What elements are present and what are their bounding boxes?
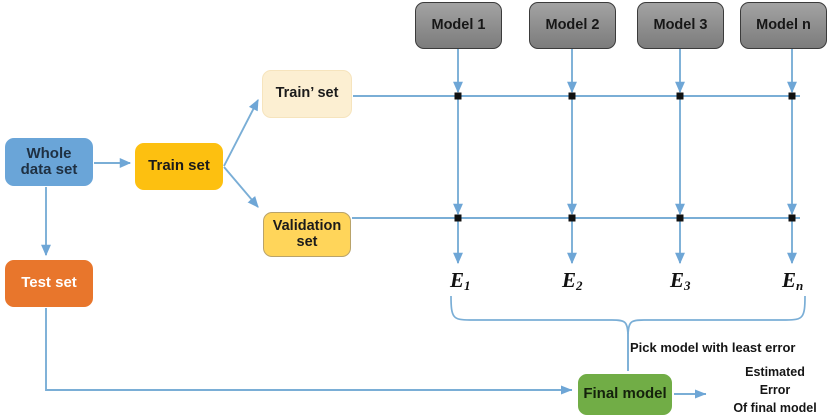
node-model-n-label: Model n — [756, 18, 811, 34]
node-validation-set-line1: Validation — [273, 219, 342, 235]
caption-estimated-line1: Estimated — [712, 363, 829, 381]
node-model-n[interactable]: Model n — [740, 2, 827, 49]
error-label-2-sub: 2 — [576, 278, 583, 293]
error-label-n-sub: n — [796, 278, 803, 293]
error-label-2-base: E — [562, 268, 576, 292]
node-train-prime-set[interactable]: Train’ set — [262, 70, 352, 118]
node-validation-set-line2: set — [297, 235, 318, 251]
node-validation-set[interactable]: Validation set — [263, 212, 351, 257]
diagram-canvas: Whole data set Train set Train’ set Vali… — [0, 0, 829, 417]
node-model-1[interactable]: Model 1 — [415, 2, 502, 49]
node-test-set[interactable]: Test set — [5, 260, 93, 307]
error-label-n: En — [782, 268, 803, 293]
error-label-3-base: E — [670, 268, 684, 292]
node-final-model-label: Final model — [583, 386, 666, 402]
junction-dot — [789, 93, 796, 100]
edge-train-to-trainprime — [224, 100, 258, 166]
node-model-2[interactable]: Model 2 — [529, 2, 616, 49]
error-label-1: E1 — [450, 268, 471, 293]
junction-dot — [789, 215, 796, 222]
node-model-2-label: Model 2 — [546, 18, 600, 34]
error-label-3-sub: 3 — [684, 278, 691, 293]
error-label-1-sub: 1 — [464, 278, 471, 293]
node-whole-data-set[interactable]: Whole data set — [5, 138, 93, 186]
error-label-3: E3 — [670, 268, 691, 293]
node-test-set-label: Test set — [21, 275, 77, 291]
junction-dot — [455, 215, 462, 222]
edge-test-to-final — [46, 308, 572, 390]
node-train-set-label: Train set — [148, 158, 210, 174]
error-label-1-base: E — [450, 268, 464, 292]
junction-dot — [677, 93, 684, 100]
node-whole-data-set-line1: Whole — [26, 145, 71, 162]
node-model-3[interactable]: Model 3 — [637, 2, 724, 49]
edge-train-to-validation — [224, 167, 258, 207]
node-train-set[interactable]: Train set — [135, 143, 223, 190]
node-whole-data-set-line2: data set — [21, 161, 78, 178]
node-whole-data-set-label: Whole data set — [21, 146, 78, 178]
junction-dot — [677, 215, 684, 222]
error-label-2: E2 — [562, 268, 583, 293]
node-train-prime-set-label: Train’ set — [276, 86, 339, 102]
caption-pick-model: Pick model with least error — [630, 340, 795, 355]
junction-dots — [455, 93, 796, 222]
junction-dot — [455, 93, 462, 100]
caption-estimated-line2: Error — [712, 381, 829, 399]
caption-estimated-line3: Of final model — [712, 399, 829, 417]
junction-dot — [569, 215, 576, 222]
caption-estimated-error: Estimated Error Of final model — [712, 363, 829, 417]
brace-errors — [451, 296, 805, 334]
error-label-n-base: E — [782, 268, 796, 292]
node-model-3-label: Model 3 — [654, 18, 708, 34]
node-model-1-label: Model 1 — [432, 18, 486, 34]
junction-dot — [569, 93, 576, 100]
node-final-model[interactable]: Final model — [578, 374, 672, 415]
